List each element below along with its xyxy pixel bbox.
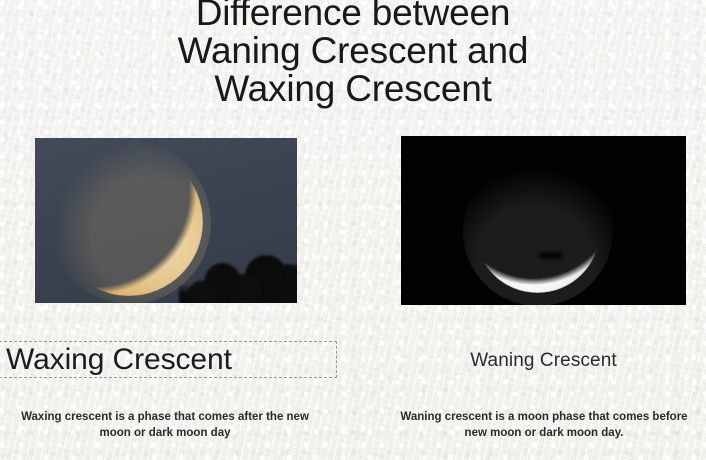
tree-silhouette (179, 255, 297, 303)
waxing-crescent-photo[interactable] (35, 138, 297, 303)
waning-caption-label[interactable]: Waning Crescent (401, 350, 686, 372)
slide-canvas[interactable]: Difference between Waning Crescent and W… (0, 0, 706, 460)
waxing-caption-label[interactable]: Waxing Crescent (6, 341, 336, 378)
waning-crescent-moon-icon (475, 168, 600, 293)
page-title[interactable]: Difference between Waning Crescent and W… (0, 0, 706, 108)
waning-description-text[interactable]: Waning crescent is a moon phase that com… (398, 409, 690, 441)
waxing-description-text[interactable]: Waxing crescent is a phase that comes af… (20, 409, 310, 441)
waning-crescent-photo[interactable] (401, 136, 686, 305)
waning-crescent-shadow-notch (539, 252, 563, 259)
